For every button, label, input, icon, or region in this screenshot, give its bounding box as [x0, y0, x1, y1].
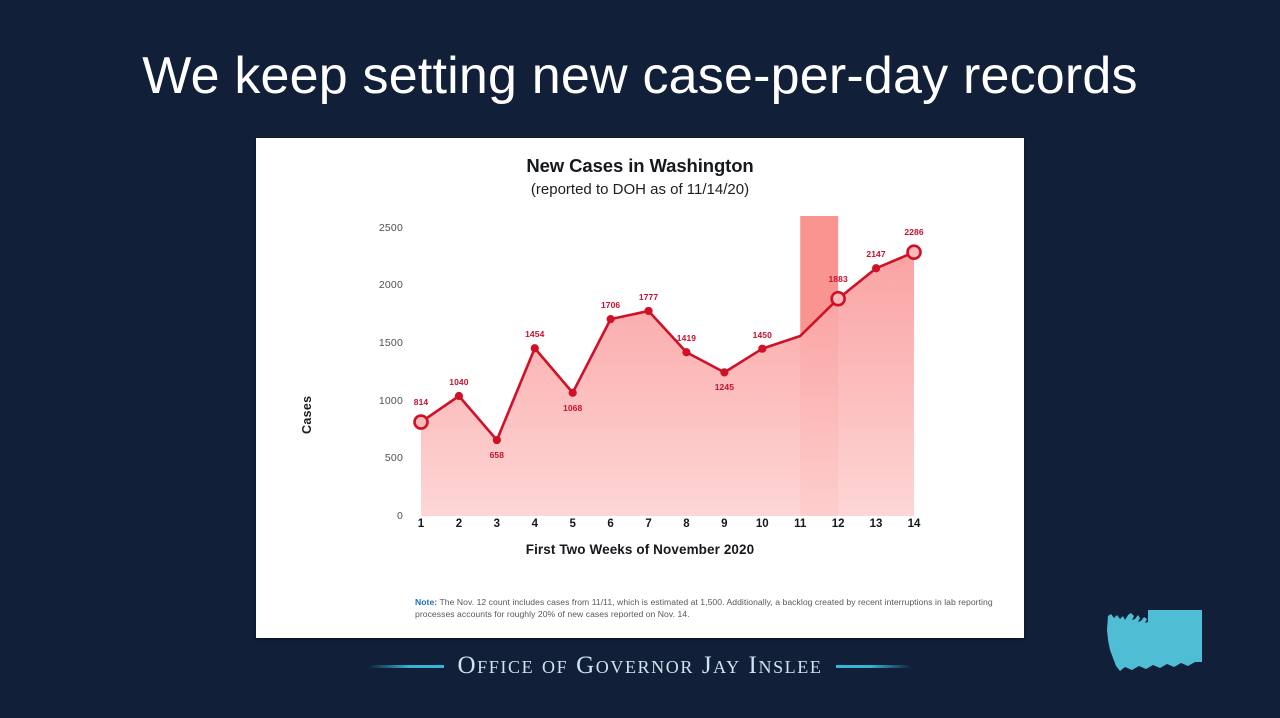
x-tick-4: 4 [520, 518, 550, 530]
chart-footnote: Note: The Nov. 12 count includes cases f… [415, 596, 995, 620]
data-label-6: 1706 [601, 300, 620, 310]
x-tick-10: 10 [747, 518, 777, 530]
y-axis-ticks: 05001000150020002500 [351, 216, 403, 516]
data-label-14: 2286 [904, 227, 923, 237]
footer-title: Office of Governor Jay Inslee [458, 652, 823, 680]
data-point-5 [569, 389, 576, 396]
note-body: The Nov. 12 count includes cases from 11… [415, 597, 993, 619]
data-label-4: 1454 [525, 329, 544, 339]
x-axis-title: First Two Weeks of November 2020 [256, 542, 1024, 557]
chart-subtitle: (reported to DOH as of 11/14/20) [256, 181, 1024, 198]
data-label-1: 814 [414, 397, 428, 407]
y-axis-title: Cases [300, 396, 314, 434]
y-tick-2000: 2000 [359, 279, 403, 291]
x-axis-ticks: 1234567891011121314 [407, 518, 928, 536]
x-tick-5: 5 [558, 518, 588, 530]
area-chart-svg [407, 216, 928, 516]
x-tick-3: 3 [482, 518, 512, 530]
slide-footer: Office of Governor Jay Inslee [0, 652, 1280, 680]
data-label-13: 2147 [866, 249, 885, 259]
data-point-13 [873, 265, 880, 272]
data-label-10: 1450 [753, 330, 772, 340]
data-label-5: 1068 [563, 403, 582, 413]
data-point-12 [832, 292, 845, 305]
x-tick-8: 8 [671, 518, 701, 530]
x-tick-1: 1 [406, 518, 436, 530]
plot-area: 8141040658145410681706177714191245145018… [407, 216, 928, 516]
x-tick-2: 2 [444, 518, 474, 530]
data-point-7 [645, 308, 652, 315]
y-tick-1000: 1000 [359, 395, 403, 407]
x-tick-14: 14 [899, 518, 929, 530]
chart-title: New Cases in Washington [256, 155, 1024, 177]
data-label-12: 1883 [828, 274, 847, 284]
data-point-1 [415, 416, 428, 429]
x-tick-9: 9 [709, 518, 739, 530]
data-point-3 [493, 437, 500, 444]
presentation-slide: We keep setting new case-per-day records… [0, 0, 1280, 718]
chart-card: New Cases in Washington (reported to DOH… [256, 138, 1024, 638]
y-tick-2500: 2500 [359, 222, 403, 234]
y-tick-0: 0 [359, 510, 403, 522]
y-tick-500: 500 [359, 452, 403, 464]
data-point-10 [759, 345, 766, 352]
washington-state-outline-icon [1098, 600, 1208, 696]
data-point-8 [683, 349, 690, 356]
data-label-2: 1040 [449, 377, 468, 387]
data-point-14 [908, 246, 921, 259]
data-label-3: 658 [490, 450, 504, 460]
data-label-9: 1245 [715, 382, 734, 392]
footer-rule-right-icon [836, 665, 912, 668]
data-label-7: 1777 [639, 292, 658, 302]
note-label: Note: [415, 597, 437, 607]
x-tick-7: 7 [634, 518, 664, 530]
x-tick-6: 6 [596, 518, 626, 530]
footer-rule-left-icon [368, 665, 444, 668]
data-point-6 [607, 316, 614, 323]
data-point-2 [456, 393, 463, 400]
x-tick-11: 11 [785, 518, 815, 530]
x-tick-13: 13 [861, 518, 891, 530]
data-point-9 [721, 369, 728, 376]
data-label-8: 1419 [677, 333, 696, 343]
data-point-4 [531, 345, 538, 352]
x-tick-12: 12 [823, 518, 853, 530]
slide-title: We keep setting new case-per-day records [0, 48, 1280, 104]
y-tick-1500: 1500 [359, 337, 403, 349]
